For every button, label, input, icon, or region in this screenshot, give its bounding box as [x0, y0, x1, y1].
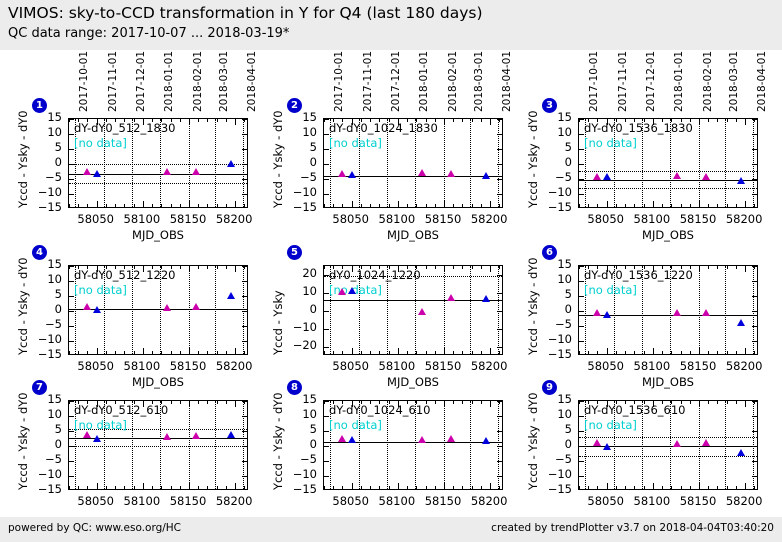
x-tick-mark — [736, 204, 737, 207]
x-tick-mark — [462, 351, 463, 354]
x-tick-mark — [180, 266, 181, 269]
x-tick-mark — [143, 483, 144, 489]
footer-left-text: powered by QC: www.eso.org/HC — [8, 522, 181, 534]
x-tick-mark — [708, 486, 709, 489]
no-data-note: [no data] — [329, 418, 382, 432]
x-tick-mark — [634, 204, 635, 207]
y-tick-mark — [324, 476, 329, 477]
y-tick-mark — [497, 476, 502, 477]
y-tick-mark — [579, 194, 584, 195]
y-tick-mark — [242, 461, 247, 462]
x-tick-mark — [644, 204, 645, 207]
y-tick-mark — [579, 164, 584, 165]
x-tick-mark — [462, 266, 463, 269]
y-tick-mark — [242, 326, 247, 327]
y-tick-mark — [497, 431, 502, 432]
x-tick-mark — [745, 119, 746, 125]
horizontal-reference-line — [579, 188, 757, 189]
x-tick-mark — [97, 201, 98, 207]
y-tick-mark — [324, 329, 329, 330]
no-data-note: [no data] — [329, 136, 382, 150]
x-tick-mark — [727, 266, 728, 269]
x-tick-mark — [472, 401, 473, 404]
x-tick-mark — [217, 204, 218, 207]
x-tick-mark — [607, 348, 608, 354]
x-tick-mark — [398, 201, 399, 207]
vertical-gridline — [470, 119, 471, 207]
x-tick-mark — [426, 351, 427, 354]
x-tick-mark — [472, 351, 473, 354]
x-tick-mark — [217, 486, 218, 489]
plot-area: dY-dY0_1536_610[no data] — [578, 400, 758, 490]
x-tick-mark — [226, 204, 227, 207]
x-tick-mark — [143, 201, 144, 207]
x-tick-mark — [226, 119, 227, 122]
y-tick-mark — [579, 311, 584, 312]
y-tick-mark — [579, 446, 584, 447]
x-tick-mark — [472, 119, 473, 122]
mean-line — [324, 300, 502, 301]
x-tick-mark — [708, 351, 709, 354]
data-point-marker — [482, 295, 490, 302]
y-tick-mark — [752, 134, 757, 135]
x-tick-mark — [490, 266, 491, 272]
x-tick-mark — [671, 486, 672, 489]
x-tick-mark — [435, 486, 436, 489]
no-data-note: [no data] — [74, 283, 127, 297]
vertical-gridline — [189, 119, 190, 207]
y-tick-mark — [752, 194, 757, 195]
x-tick-mark — [699, 119, 700, 125]
x-tick-mark — [207, 266, 208, 269]
y-tick-mark — [497, 275, 502, 276]
y-tick-mark — [579, 326, 584, 327]
y-tick-mark — [497, 293, 502, 294]
x-tick-mark — [681, 204, 682, 207]
y-tick-mark — [497, 164, 502, 165]
y-tick-mark — [242, 476, 247, 477]
x-tick-mark — [727, 204, 728, 207]
x-tick-mark — [69, 486, 70, 489]
x-tick-mark — [597, 351, 598, 354]
y-tick-mark — [242, 446, 247, 447]
x-tick-mark — [490, 201, 491, 207]
x-tick-mark — [189, 119, 190, 125]
data-point-marker — [418, 436, 426, 443]
x-tick-mark — [462, 401, 463, 404]
x-tick-mark — [745, 266, 746, 272]
x-tick-mark — [398, 348, 399, 354]
x-tick-mark — [416, 486, 417, 489]
y-tick-mark — [752, 326, 757, 327]
vertical-gridline — [215, 401, 216, 489]
y-tick-mark — [69, 311, 74, 312]
x-tick-mark — [352, 348, 353, 354]
y-tick-mark — [324, 179, 329, 180]
x-tick-mark — [198, 204, 199, 207]
y-tick-mark — [752, 266, 757, 267]
data-point-marker — [603, 311, 611, 318]
data-point-marker — [482, 172, 490, 179]
x-tick-mark — [361, 351, 362, 354]
x-tick-mark — [69, 351, 70, 354]
panel-label: dY-dY0_1024_1830 — [329, 121, 438, 135]
y-tick-mark — [242, 119, 247, 120]
x-tick-mark — [453, 351, 454, 354]
x-tick-mark — [435, 401, 436, 404]
horizontal-reference-line — [579, 437, 757, 438]
horizontal-reference-line — [69, 183, 247, 184]
x-tick-mark — [87, 204, 88, 207]
x-tick-mark — [217, 351, 218, 354]
x-tick-mark — [87, 351, 88, 354]
data-point-marker — [192, 168, 200, 175]
x-tick-mark — [481, 351, 482, 354]
x-tick-mark — [444, 348, 445, 354]
data-point-marker — [93, 170, 101, 177]
vertical-gridline — [699, 119, 700, 207]
y-tick-mark — [324, 194, 329, 195]
no-data-note: [no data] — [584, 136, 637, 150]
x-tick-mark — [324, 266, 325, 269]
x-tick-mark — [226, 266, 227, 269]
data-point-marker — [83, 168, 91, 175]
x-tick-mark — [426, 266, 427, 269]
x-tick-mark — [579, 486, 580, 489]
x-tick-mark — [435, 204, 436, 207]
x-tick-mark — [444, 483, 445, 489]
y-tick-label: 5 — [536, 422, 572, 436]
x-tick-mark — [379, 351, 380, 354]
x-tick-mark — [180, 486, 181, 489]
data-point-marker — [163, 304, 171, 311]
x-tick-mark — [727, 486, 728, 489]
y-tick-mark — [69, 179, 74, 180]
y-tick-mark — [69, 326, 74, 327]
y-tick-mark — [752, 119, 757, 120]
data-point-marker — [338, 435, 346, 442]
x-tick-mark — [625, 351, 626, 354]
x-tick-mark — [87, 486, 88, 489]
x-tick-mark — [462, 204, 463, 207]
data-point-marker — [83, 431, 91, 438]
footer-bar: powered by QC: www.eso.org/HC created by… — [0, 517, 782, 542]
x-tick-mark — [625, 204, 626, 207]
x-tick-mark — [180, 119, 181, 122]
y-tick-mark — [324, 347, 329, 348]
x-tick-mark — [588, 204, 589, 207]
x-tick-mark — [681, 351, 682, 354]
x-tick-mark — [106, 486, 107, 489]
data-point-marker — [593, 439, 601, 446]
x-tick-mark — [607, 483, 608, 489]
vertical-gridline — [725, 266, 726, 354]
x-tick-mark — [152, 204, 153, 207]
data-point-marker — [338, 170, 346, 177]
y-tick-mark — [69, 194, 74, 195]
x-tick-mark — [699, 483, 700, 489]
x-tick-mark — [189, 266, 190, 272]
panel-label: dY-dY0_1536_610 — [584, 403, 685, 417]
x-tick-mark — [625, 486, 626, 489]
panel-number-badge: 7 — [32, 380, 47, 395]
x-tick-mark — [708, 204, 709, 207]
x-tick-mark — [235, 348, 236, 354]
x-tick-mark — [490, 119, 491, 125]
x-tick-mark — [207, 119, 208, 122]
x-tick-label: 58200 — [716, 494, 772, 508]
x-tick-mark — [644, 351, 645, 354]
x-tick-mark — [699, 348, 700, 354]
horizontal-reference-line — [579, 456, 757, 457]
footer-right-text: created by trendPlotter v3.7 on 2018-04-… — [491, 522, 774, 534]
x-tick-mark — [717, 486, 718, 489]
x-tick-mark — [453, 401, 454, 404]
y-tick-mark — [324, 446, 329, 447]
y-tick-mark — [579, 401, 584, 402]
x-tick-mark — [324, 204, 325, 207]
x-tick-mark — [324, 351, 325, 354]
panel-label: dY0_1024_1220 — [329, 268, 421, 282]
data-point-marker — [737, 177, 745, 184]
y-tick-mark — [242, 341, 247, 342]
vertical-gridline — [215, 119, 216, 207]
x-tick-mark — [453, 486, 454, 489]
y-tick-mark — [497, 149, 502, 150]
x-tick-mark — [708, 119, 709, 122]
x-tick-mark — [736, 401, 737, 404]
vertical-gridline — [470, 401, 471, 489]
x-tick-mark — [389, 351, 390, 354]
y-tick-mark — [242, 281, 247, 282]
x-tick-mark — [143, 348, 144, 354]
y-tick-mark — [752, 341, 757, 342]
x-tick-mark — [444, 401, 445, 407]
x-tick-mark — [352, 483, 353, 489]
y-tick-mark — [69, 119, 74, 120]
x-tick-mark — [490, 348, 491, 354]
data-point-marker — [227, 160, 235, 167]
x-tick-mark — [444, 266, 445, 272]
x-tick-mark — [653, 348, 654, 354]
x-tick-mark — [226, 401, 227, 404]
vertical-gridline — [444, 401, 445, 489]
x-tick-mark — [699, 201, 700, 207]
x-tick-mark — [426, 204, 427, 207]
panel-number-badge: 2 — [287, 98, 302, 113]
y-tick-mark — [579, 476, 584, 477]
x-tick-mark — [717, 119, 718, 122]
y-tick-mark — [752, 416, 757, 417]
x-tick-mark — [244, 486, 245, 489]
x-tick-mark — [481, 204, 482, 207]
panel-number-badge: 5 — [287, 245, 302, 260]
data-point-marker — [418, 169, 426, 176]
y-tick-mark — [752, 446, 757, 447]
x-tick-mark — [97, 483, 98, 489]
data-point-marker — [227, 292, 235, 299]
x-tick-mark — [490, 483, 491, 489]
y-tick-mark — [324, 311, 329, 312]
x-tick-mark — [453, 266, 454, 269]
x-tick-mark — [671, 351, 672, 354]
y-tick-mark — [579, 119, 584, 120]
x-tick-mark — [690, 401, 691, 404]
y-tick-mark — [497, 119, 502, 120]
y-tick-label: −10 — [536, 467, 572, 481]
x-tick-mark — [472, 266, 473, 269]
x-tick-mark — [634, 351, 635, 354]
x-tick-mark — [171, 486, 172, 489]
x-tick-mark — [161, 204, 162, 207]
x-tick-mark — [616, 486, 617, 489]
x-tick-mark — [389, 204, 390, 207]
x-tick-mark — [435, 351, 436, 354]
x-tick-mark — [472, 486, 473, 489]
data-point-marker — [702, 309, 710, 316]
x-tick-mark — [106, 351, 107, 354]
x-tick-mark — [690, 486, 691, 489]
x-tick-mark — [426, 486, 427, 489]
x-tick-mark — [754, 204, 755, 207]
x-tick-mark — [161, 486, 162, 489]
panel-number-badge: 4 — [32, 245, 47, 260]
x-tick-mark — [662, 351, 663, 354]
x-tick-mark — [333, 204, 334, 207]
x-tick-mark — [370, 351, 371, 354]
data-point-marker — [673, 440, 681, 447]
x-tick-mark — [499, 351, 500, 354]
y-tick-mark — [324, 119, 329, 120]
x-tick-mark — [754, 351, 755, 354]
y-tick-mark — [752, 476, 757, 477]
horizontal-reference-line — [579, 171, 757, 172]
x-tick-mark — [115, 204, 116, 207]
y-tick-mark — [497, 461, 502, 462]
x-tick-mark — [416, 204, 417, 207]
x-tick-mark — [499, 486, 500, 489]
x-tick-mark — [462, 119, 463, 122]
y-tick-mark — [579, 179, 584, 180]
y-tick-mark — [242, 431, 247, 432]
data-point-marker — [163, 168, 171, 175]
x-tick-mark — [198, 266, 199, 269]
y-tick-mark — [242, 194, 247, 195]
data-point-marker — [447, 435, 455, 442]
y-tick-mark — [752, 296, 757, 297]
panel-number-badge: 1 — [32, 98, 47, 113]
y-tick-mark — [752, 311, 757, 312]
x-tick-mark — [226, 486, 227, 489]
vertical-gridline — [470, 266, 471, 354]
x-tick-mark — [634, 486, 635, 489]
y-tick-mark — [497, 311, 502, 312]
y-tick-mark — [242, 401, 247, 402]
x-tick-mark — [226, 351, 227, 354]
x-tick-mark — [333, 486, 334, 489]
vertical-gridline — [444, 266, 445, 354]
data-point-marker — [93, 435, 101, 442]
panel-label: dY-dY0_512_1830 — [74, 121, 175, 135]
x-tick-mark — [398, 483, 399, 489]
data-point-marker — [603, 173, 611, 180]
x-tick-mark — [235, 401, 236, 407]
panel-label: dY-dY0_1536_1220 — [584, 268, 693, 282]
y-tick-mark — [579, 341, 584, 342]
y-tick-mark — [69, 164, 74, 165]
panel-number-badge: 3 — [542, 98, 557, 113]
y-tick-mark — [242, 149, 247, 150]
x-tick-mark — [481, 119, 482, 122]
data-point-marker — [593, 309, 601, 316]
x-tick-mark — [481, 266, 482, 269]
x-tick-mark — [198, 119, 199, 122]
y-tick-mark — [242, 266, 247, 267]
x-tick-mark — [407, 351, 408, 354]
y-tick-mark — [752, 461, 757, 462]
x-tick-mark — [171, 204, 172, 207]
y-tick-mark — [497, 401, 502, 402]
x-tick-mark — [361, 204, 362, 207]
y-tick-mark — [579, 266, 584, 267]
y-tick-mark — [69, 476, 74, 477]
data-point-marker — [348, 436, 356, 443]
data-point-marker — [447, 170, 455, 177]
x-tick-mark — [352, 201, 353, 207]
x-tick-mark — [499, 266, 500, 269]
x-tick-mark — [370, 486, 371, 489]
data-point-marker — [737, 319, 745, 326]
x-tick-mark — [588, 486, 589, 489]
x-tick-mark — [207, 204, 208, 207]
y-tick-mark — [752, 179, 757, 180]
x-tick-mark — [699, 401, 700, 407]
y-tick-mark — [69, 341, 74, 342]
data-point-marker — [348, 171, 356, 178]
x-tick-mark — [217, 119, 218, 122]
x-tick-mark — [453, 204, 454, 207]
x-tick-mark — [78, 204, 79, 207]
x-tick-mark — [435, 266, 436, 269]
data-point-marker — [192, 432, 200, 439]
x-tick-mark — [616, 204, 617, 207]
x-tick-mark — [171, 401, 172, 404]
no-data-note: [no data] — [74, 136, 127, 150]
x-tick-mark — [407, 486, 408, 489]
x-tick-mark — [189, 201, 190, 207]
x-tick-mark — [379, 486, 380, 489]
x-tick-mark — [180, 351, 181, 354]
x-tick-mark — [324, 486, 325, 489]
data-point-marker — [603, 443, 611, 450]
x-tick-mark — [745, 483, 746, 489]
x-tick-mark — [333, 351, 334, 354]
data-point-marker — [673, 172, 681, 179]
x-tick-mark — [342, 204, 343, 207]
x-tick-mark — [207, 401, 208, 404]
x-tick-mark — [152, 351, 153, 354]
x-tick-mark — [717, 204, 718, 207]
x-tick-mark — [699, 266, 700, 272]
x-tick-mark — [681, 486, 682, 489]
y-tick-mark — [497, 446, 502, 447]
y-tick-label: 0 — [536, 437, 572, 451]
x-tick-mark — [244, 204, 245, 207]
x-tick-mark — [379, 204, 380, 207]
y-tick-mark — [579, 461, 584, 462]
vertical-gridline — [444, 119, 445, 207]
x-tick-mark — [342, 351, 343, 354]
